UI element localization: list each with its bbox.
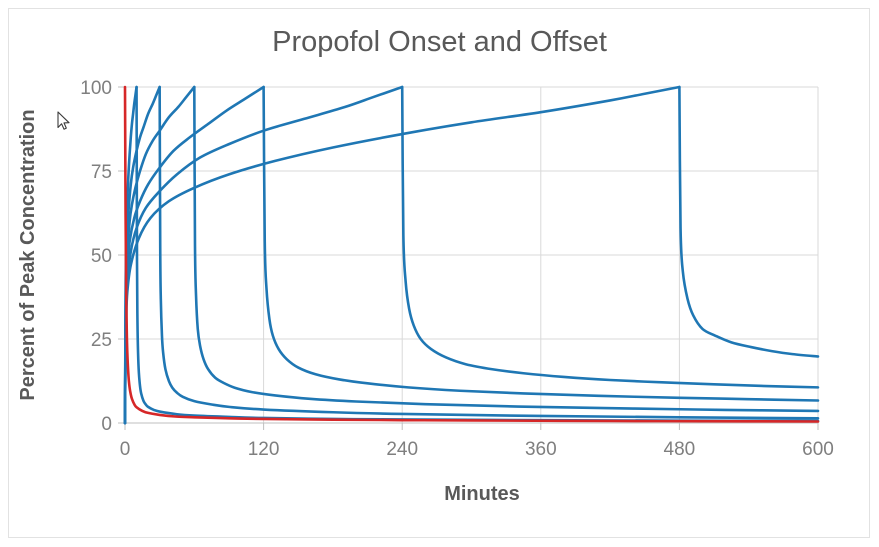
y-tick-label: 75 [91,162,112,183]
series-offset-infusion-60min [194,87,818,411]
axis-ticks [118,87,818,430]
series-line-bolus [125,87,818,421]
y-tick-label: 0 [101,414,112,435]
chart-plot-area: 02550751000120240360480600 Minutes Perce… [0,0,879,547]
series-offset-infusion-10min [137,87,818,421]
series-offset-infusion-480min [679,87,818,356]
x-tick-label: 240 [386,439,418,460]
x-tick-label: 480 [664,439,696,460]
x-axis-title: Minutes [444,483,520,505]
chart-svg: 02550751000120240360480600 Minutes Perce… [0,0,879,547]
y-tick-label: 50 [91,246,112,267]
x-tick-label: 360 [525,439,557,460]
series-offset-infusion-240min [402,87,818,387]
x-tick-label: 0 [120,439,131,460]
y-axis-title: Percent of Peak Concentration [17,109,39,400]
y-tick-label: 25 [91,330,112,351]
x-tick-label: 120 [248,439,280,460]
y-tick-label: 100 [80,78,112,99]
chart-page: Propofol Onset and Offset 02550751000120… [0,0,879,547]
x-tick-label: 600 [802,439,834,460]
gridlines [125,87,818,423]
